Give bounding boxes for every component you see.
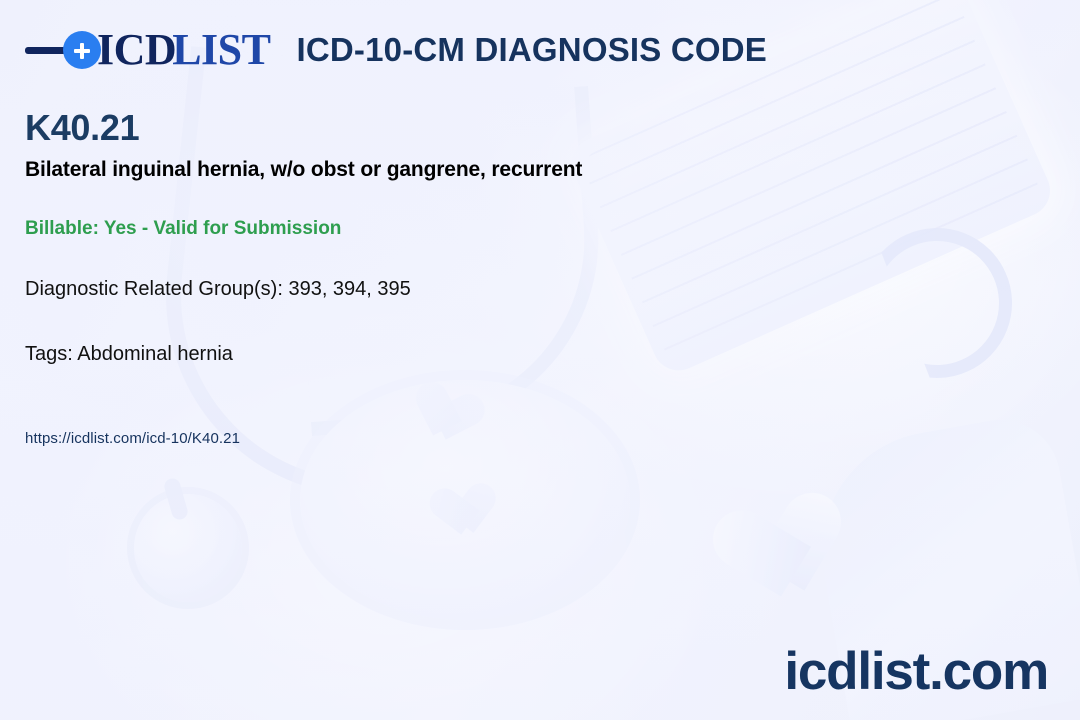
page-title: ICD-10-CM DIAGNOSIS CODE — [296, 31, 767, 69]
plus-circle-icon — [63, 31, 101, 69]
stethoscope-chestpiece-icon — [134, 494, 242, 602]
tags-line: Tags: Abdominal hernia — [25, 343, 582, 366]
page-header: ICDLIST ICD-10-CM DIAGNOSIS CODE — [0, 0, 1080, 100]
site-watermark: icdlist.com — [784, 641, 1048, 702]
logo-text-list: LIST — [172, 28, 270, 72]
billable-status: Billable: Yes - Valid for Submission — [25, 218, 582, 240]
diagnosis-code: K40.21 — [25, 108, 582, 148]
diagnostic-related-groups: Diagnostic Related Group(s): 393, 394, 3… — [25, 278, 582, 301]
diagnosis-description: Bilateral inguinal hernia, w/o obst or g… — [25, 158, 582, 182]
surgical-mask-earloop-icon — [838, 204, 1036, 402]
icd-code-card: ICDLIST ICD-10-CM DIAGNOSIS CODE K40.21 … — [0, 0, 1080, 720]
paper-heart-icon — [678, 458, 814, 594]
logo-text-icd: ICD — [97, 28, 176, 72]
paper-heart-small-2-icon — [414, 464, 480, 530]
icdlist-logo[interactable]: ICDLIST — [25, 28, 270, 72]
source-url[interactable]: https://icdlist.com/icd-10/K40.21 — [25, 430, 582, 447]
code-details: K40.21 Bilateral inguinal hernia, w/o ob… — [25, 108, 582, 447]
